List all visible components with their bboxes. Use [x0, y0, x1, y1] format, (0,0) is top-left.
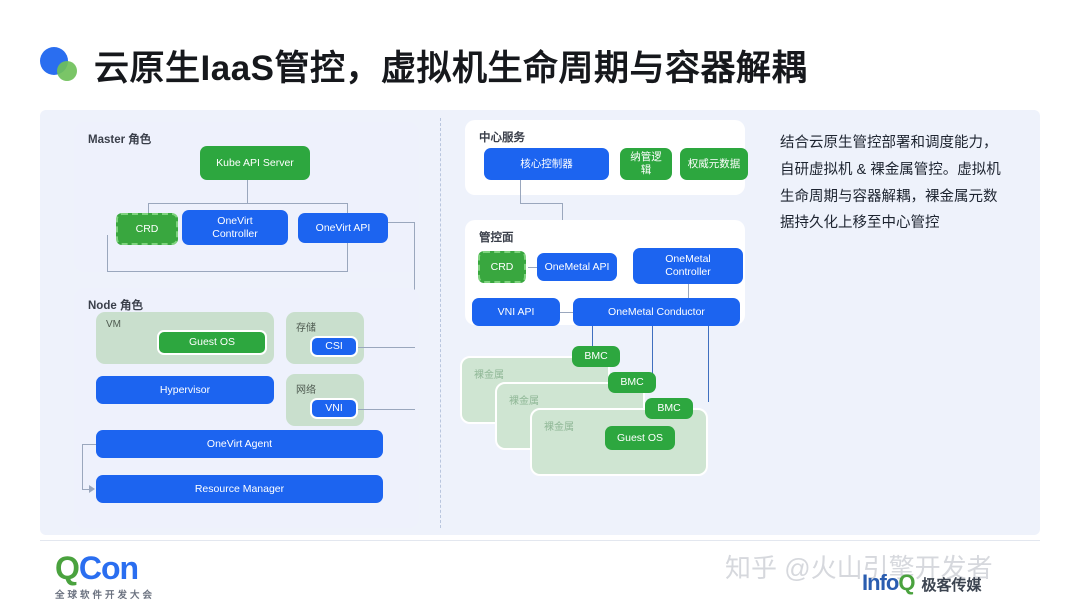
node-guest-os[interactable]: Guest OS	[157, 330, 267, 355]
connector	[107, 235, 108, 272]
connector	[247, 180, 248, 204]
node-onemetal-api[interactable]: OneMetal API	[537, 253, 617, 281]
node-authoritative-metadata[interactable]: 权威元数据	[680, 148, 748, 180]
connector	[708, 326, 709, 402]
node-management-logic[interactable]: 纳管逻 辑	[620, 148, 672, 180]
side-note-line: 自研虚拟机 & 裸金属管控。虚拟机	[780, 157, 1020, 184]
node-kube-api-server[interactable]: Kube API Server	[200, 146, 310, 180]
infoq-logo-cn: 极客传媒	[921, 574, 981, 595]
vertical-divider	[440, 118, 441, 528]
infoq-logo-q: Q	[898, 570, 915, 596]
infoq-logo: InfoQ 极客传媒	[862, 570, 981, 596]
panel-label-central: 中心服务	[479, 129, 525, 145]
node-onevirt-agent[interactable]: OneVirt Agent	[96, 430, 383, 458]
group-label-vm: VM	[106, 319, 121, 330]
connector	[387, 222, 415, 223]
node-resource-manager[interactable]: Resource Manager	[96, 475, 383, 503]
node-hypervisor[interactable]: Hypervisor	[96, 376, 274, 404]
panel-label-master: Master 角色	[88, 131, 151, 147]
connector	[358, 347, 415, 348]
connector	[528, 267, 537, 268]
node-crd-control-plane[interactable]: CRD	[478, 251, 526, 283]
page-title: 云原生IaaS管控，虚拟机生命周期与容器解耦	[40, 40, 807, 91]
arrow-icon	[89, 485, 95, 493]
node-csi[interactable]: CSI	[310, 336, 358, 357]
connector	[688, 284, 689, 299]
node-crd-master[interactable]: CRD	[116, 213, 178, 245]
node-vni[interactable]: VNI	[310, 398, 358, 419]
node-onemetal-conductor[interactable]: OneMetal Conductor	[573, 298, 740, 326]
footer-divider	[40, 540, 1040, 541]
bare-metal-label: 裸金属	[544, 418, 574, 433]
connector	[148, 203, 347, 204]
panel-label-control-plane: 管控面	[479, 229, 514, 245]
connector	[82, 444, 96, 445]
qcon-logo: QCon 全球软件开发大会	[55, 552, 155, 601]
side-note-line: 生命周期与容器解耦，裸金属元数	[780, 184, 1020, 211]
connector	[520, 180, 521, 204]
connector	[347, 243, 348, 272]
infoq-logo-info: Info	[862, 570, 898, 596]
two-circles-icon	[40, 45, 82, 87]
badge-bmc-1[interactable]: BMC	[572, 346, 620, 367]
qcon-logo-q: Q	[55, 550, 79, 586]
connector	[358, 409, 415, 410]
qcon-logo-con: Con	[79, 550, 138, 586]
side-note-line: 据持久化上移至中心管控	[780, 210, 1020, 237]
group-label-network: 网络	[296, 381, 316, 396]
slide-root: 云原生IaaS管控，虚拟机生命周期与容器解耦 Master 角色 Kube AP…	[0, 0, 1080, 609]
qcon-logo-subtitle: 全球软件开发大会	[55, 587, 155, 601]
bare-metal-label: 裸金属	[509, 392, 539, 407]
group-label-storage: 存储	[296, 319, 316, 334]
badge-bmc-2[interactable]: BMC	[608, 372, 656, 393]
node-onevirt-api[interactable]: OneVirt API	[298, 213, 388, 243]
node-vni-api[interactable]: VNI API	[472, 298, 560, 326]
badge-bmc-3[interactable]: BMC	[645, 398, 693, 419]
node-core-controller[interactable]: 核心控制器	[484, 148, 609, 180]
badge-guest-os[interactable]: Guest OS	[605, 426, 675, 450]
connector	[560, 312, 573, 313]
connector	[107, 271, 347, 272]
title-text: 云原生IaaS管控，虚拟机生命周期与容器解耦	[94, 40, 807, 91]
node-onevirt-controller[interactable]: OneVirt Controller	[182, 210, 288, 245]
connector	[82, 444, 83, 489]
panel-label-node: Node 角色	[88, 297, 143, 313]
connector	[520, 203, 563, 204]
side-note: 结合云原生管控部署和调度能力， 自研虚拟机 & 裸金属管控。虚拟机 生命周期与容…	[780, 130, 1020, 237]
bare-metal-label: 裸金属	[474, 366, 504, 381]
node-onemetal-controller[interactable]: OneMetal Controller	[633, 248, 743, 284]
connector	[652, 326, 653, 376]
side-note-line: 结合云原生管控部署和调度能力，	[780, 130, 1020, 157]
